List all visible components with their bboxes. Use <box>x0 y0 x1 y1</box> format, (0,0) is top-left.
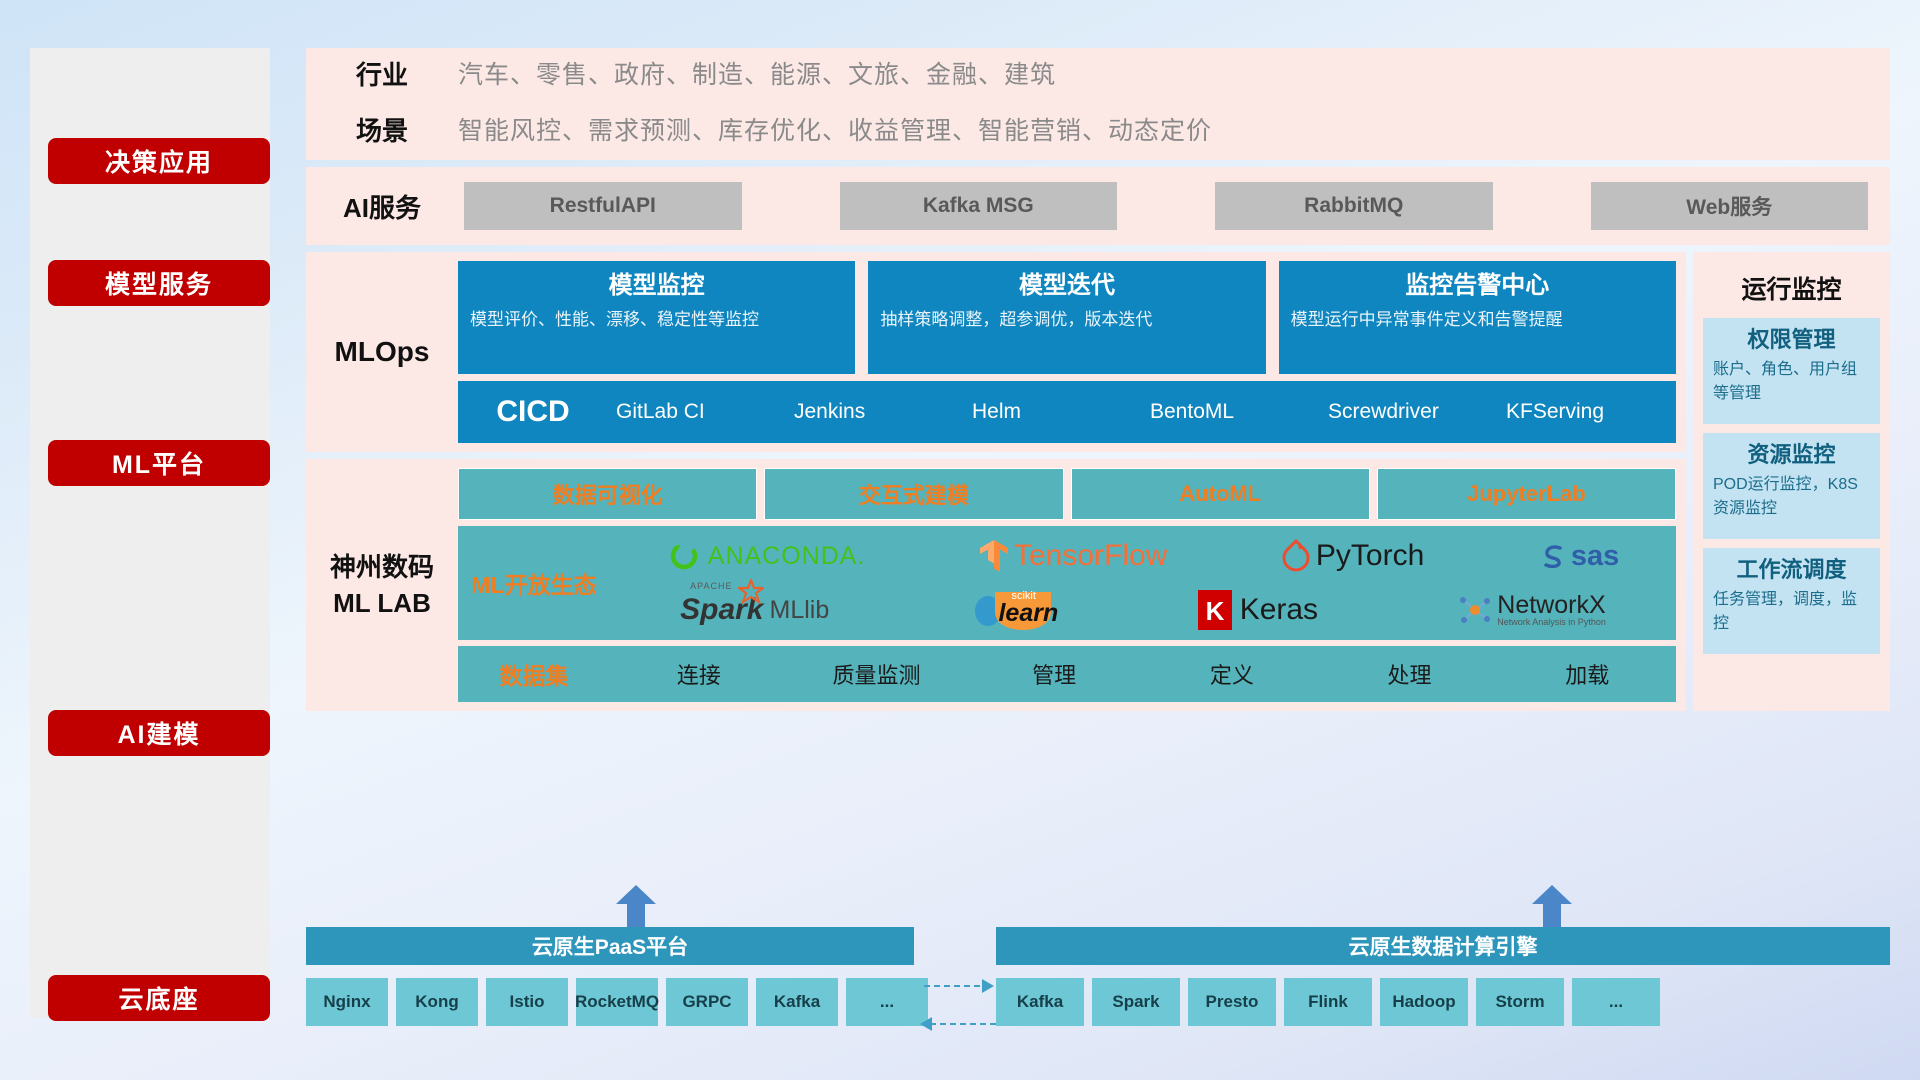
mlops-label: MLOps <box>306 261 458 443</box>
rail-chip-ml-platform[interactable]: ML平台 <box>48 440 270 486</box>
ai-chip-kafka-msg[interactable]: Kafka MSG <box>840 182 1118 230</box>
rail-chip-label: 云底座 <box>118 980 199 1016</box>
spark-apache-sup: APACHE <box>690 581 732 591</box>
logo-scikit-learn: scikit learn <box>969 588 1057 632</box>
mllab-ecosystem: ML开放生态 <box>458 526 1676 640</box>
rail-chip-decision[interactable]: 决策应用 <box>48 138 270 184</box>
cicd-items: GitLab CI Jenkins Helm BentoML Screwdriv… <box>608 399 1676 425</box>
business-labels: 行业 场景 <box>306 47 458 159</box>
card-title: 工作流调度 <box>1713 554 1870 586</box>
ai-chip-web-service[interactable]: Web服务 <box>1591 182 1869 230</box>
card-desc: 抽样策略调整，超参调优，版本迭代 <box>880 307 1253 332</box>
mlops-content: 模型监控 模型评价、性能、漂移、稳定性等监控 模型迭代 抽样策略调整，超参调优，… <box>458 261 1676 443</box>
rail-chip-cloud-base[interactable]: 云底座 <box>48 975 270 1021</box>
business-band: 行业 场景 汽车、零售、政府、制造、能源、文旅、金融、建筑 智能风控、需求预测、… <box>306 48 1890 160</box>
networkx-icon <box>1458 593 1492 627</box>
engine-chip-spark[interactable]: Spark <box>1092 978 1180 1026</box>
ai-chip-rabbitmq[interactable]: RabbitMQ <box>1215 182 1493 230</box>
card-title: 模型迭代 <box>880 269 1253 303</box>
pytorch-icon <box>1281 539 1311 573</box>
logo-tensorflow: TensorFlow <box>979 538 1167 574</box>
mllab-label-line1: 神州数码 <box>330 549 434 585</box>
rail-chip-label: ML平台 <box>112 445 206 481</box>
paas-chip-kong[interactable]: Kong <box>396 978 478 1026</box>
mllab-tool-data-visualization[interactable]: 数据可视化 <box>458 468 757 520</box>
monitoring-column: 运行监控 权限管理 账户、角色、用户组等管理 资源监控 POD运行监控，K8S资… <box>1693 252 1890 711</box>
paas-chip-kafka[interactable]: Kafka <box>756 978 838 1026</box>
card-desc: 账户、角色、用户组等管理 <box>1713 358 1870 406</box>
networkx-label: NetworkX <box>1497 593 1606 618</box>
dash-arrow-right-icon <box>982 978 996 994</box>
mllab-logo-grid: ANACONDA. TensorFlow <box>610 530 1676 636</box>
keras-icon: K <box>1198 590 1232 630</box>
dash-arrow-left-icon <box>918 1016 932 1032</box>
mllab-tool-jupyterlab[interactable]: JupyterLab <box>1377 468 1676 520</box>
dataset-item-define[interactable]: 定义 <box>1143 658 1321 690</box>
rail-chip-label: AI建模 <box>117 715 200 751</box>
dataset-item-manage[interactable]: 管理 <box>965 658 1143 690</box>
mlops-cards: 模型监控 模型评价、性能、漂移、稳定性等监控 模型迭代 抽样策略调整，超参调优，… <box>458 261 1676 374</box>
monitoring-title: 运行监控 <box>1703 262 1880 318</box>
cicd-title: CICD <box>458 395 608 429</box>
rail-chip-label: 模型服务 <box>105 265 213 301</box>
mllib-label: MLlib <box>770 596 830 625</box>
mllab-label: 神州数码 ML LAB <box>306 468 458 702</box>
engine-chip-presto[interactable]: Presto <box>1188 978 1276 1026</box>
layer-rail <box>30 48 270 1018</box>
main-stack: 行业 场景 汽车、零售、政府、制造、能源、文旅、金融、建筑 智能风控、需求预测、… <box>306 48 1890 711</box>
dataset-items: 连接 质量监测 管理 定义 处理 加载 <box>610 658 1676 690</box>
networkx-sub: Network Analysis in Python <box>1497 618 1606 627</box>
cicd-item-bentoml[interactable]: BentoML <box>1142 399 1320 425</box>
rail-chip-ai-modeling[interactable]: AI建模 <box>48 710 270 756</box>
card-title: 权限管理 <box>1713 324 1870 356</box>
scenario-value: 智能风控、需求预测、库存优化、收益管理、智能营销、动态定价 <box>458 103 1890 159</box>
logo-anaconda: ANACONDA. <box>667 539 866 573</box>
ai-service-chips: RestfulAPI Kafka MSG RabbitMQ Web服务 <box>458 182 1868 230</box>
paas-chip-more[interactable]: ... <box>846 978 928 1026</box>
industry-value: 汽车、零售、政府、制造、能源、文旅、金融、建筑 <box>458 47 1890 103</box>
spark-star-icon <box>738 579 764 605</box>
mllab-dataset-row: 数据集 连接 质量监测 管理 定义 处理 加载 <box>458 646 1676 702</box>
engine-chip-flink[interactable]: Flink <box>1284 978 1372 1026</box>
mllab-tool-interactive-modeling[interactable]: 交互式建模 <box>764 468 1063 520</box>
mllab-tool-automl[interactable]: AutoML <box>1071 468 1370 520</box>
pytorch-label: PyTorch <box>1316 539 1424 573</box>
engine-chip-row: Kafka Spark Presto Flink Hadoop Storm ..… <box>996 978 1660 1026</box>
monitor-card-permission[interactable]: 权限管理 账户、角色、用户组等管理 <box>1703 318 1880 424</box>
paas-chip-rocketmq[interactable]: RocketMQ <box>576 978 658 1026</box>
rail-chip-model-service[interactable]: 模型服务 <box>48 260 270 306</box>
middle-section: MLOps 模型监控 模型评价、性能、漂移、稳定性等监控 模型迭代 抽样策略调整… <box>306 252 1890 711</box>
logo-spark-mllib: APACHE Spark MLlib <box>680 593 829 627</box>
card-desc: 任务管理，调度，监控 <box>1713 588 1870 636</box>
logo-row-1: ANACONDA. TensorFlow <box>610 530 1676 582</box>
mlops-card-model-iteration[interactable]: 模型迭代 抽样策略调整，超参调优，版本迭代 <box>868 261 1265 374</box>
tensorflow-label: TensorFlow <box>1014 539 1167 573</box>
logo-row-2: APACHE Spark MLlib <box>610 584 1676 636</box>
anaconda-label: ANACONDA. <box>708 542 866 571</box>
diagram-canvas: 决策应用 模型服务 ML平台 AI建模 云底座 行业 场景 汽车、零售、政府、制… <box>0 0 1920 1080</box>
logo-pytorch: PyTorch <box>1281 539 1424 573</box>
engine-chip-kafka[interactable]: Kafka <box>996 978 1084 1026</box>
paas-chip-istio[interactable]: Istio <box>486 978 568 1026</box>
sas-label: sas <box>1571 540 1619 573</box>
monitor-card-workflow[interactable]: 工作流调度 任务管理，调度，监控 <box>1703 548 1880 654</box>
card-desc: 模型评价、性能、漂移、稳定性等监控 <box>470 307 843 332</box>
card-title: 模型监控 <box>470 269 843 303</box>
rail-chip-label: 决策应用 <box>105 143 213 179</box>
paas-chip-grpc[interactable]: GRPC <box>666 978 748 1026</box>
card-title: 资源监控 <box>1713 439 1870 471</box>
dataset-label: 数据集 <box>458 657 610 691</box>
logo-keras: K Keras <box>1198 590 1318 630</box>
learn-label: learn <box>998 599 1058 628</box>
mlops-band: MLOps 模型监控 模型评价、性能、漂移、稳定性等监控 模型迭代 抽样策略调整… <box>306 252 1686 452</box>
monitor-card-resource[interactable]: 资源监控 POD运行监控，K8S资源监控 <box>1703 433 1880 539</box>
tensorflow-icon <box>979 538 1009 574</box>
logo-networkx: NetworkX Network Analysis in Python <box>1458 593 1606 627</box>
anaconda-icon <box>667 539 701 573</box>
middle-left: MLOps 模型监控 模型评价、性能、漂移、稳定性等监控 模型迭代 抽样策略调整… <box>306 252 1686 711</box>
mllab-label-line2: ML LAB <box>330 585 434 621</box>
keras-label: Keras <box>1240 593 1318 627</box>
scenario-label: 场景 <box>306 103 458 159</box>
business-values: 汽车、零售、政府、制造、能源、文旅、金融、建筑 智能风控、需求预测、库存优化、收… <box>458 47 1890 159</box>
svg-text:K: K <box>1205 596 1224 626</box>
dataset-item-load[interactable]: 加载 <box>1498 658 1676 690</box>
cicd-item-jenkins[interactable]: Jenkins <box>786 399 964 425</box>
card-desc: POD运行监控，K8S资源监控 <box>1713 473 1870 521</box>
logo-sas: sas <box>1538 540 1619 573</box>
cloud-paas-bar[interactable]: 云原生PaaS平台 <box>306 927 914 965</box>
ai-service-label: AI服务 <box>306 188 458 225</box>
arrow-up-paas-icon <box>614 885 658 927</box>
dataset-item-quality[interactable]: 质量监测 <box>788 658 966 690</box>
mlops-card-model-monitoring[interactable]: 模型监控 模型评价、性能、漂移、稳定性等监控 <box>458 261 855 374</box>
arrow-up-engine-icon <box>1530 885 1574 927</box>
mllab-eco-label: ML开放生态 <box>458 566 610 600</box>
cicd-item-screwdriver[interactable]: Screwdriver <box>1320 399 1498 425</box>
dash-line-right <box>924 985 990 987</box>
ai-chip-restfulapi[interactable]: RestfulAPI <box>464 182 742 230</box>
mllab-tools: 数据可视化 交互式建模 AutoML JupyterLab <box>458 468 1676 520</box>
dataset-item-connect[interactable]: 连接 <box>610 658 788 690</box>
paas-chip-row: Nginx Kong Istio RocketMQ GRPC Kafka ... <box>306 978 928 1026</box>
dash-line-left <box>930 1023 996 1025</box>
engine-chip-hadoop[interactable]: Hadoop <box>1380 978 1468 1026</box>
cicd-bar: CICD GitLab CI Jenkins Helm BentoML Scre… <box>458 381 1676 443</box>
cloud-engine-bar[interactable]: 云原生数据计算引擎 <box>996 927 1890 965</box>
mllab-band: 神州数码 ML LAB 数据可视化 交互式建模 AutoML JupyterLa… <box>306 459 1686 711</box>
mllab-content: 数据可视化 交互式建模 AutoML JupyterLab ML开放生态 <box>458 468 1676 702</box>
ai-service-band: AI服务 RestfulAPI Kafka MSG RabbitMQ Web服务 <box>306 167 1890 245</box>
scikit-orange-blob: scikit learn <box>989 588 1057 632</box>
sas-icon <box>1538 541 1568 571</box>
industry-label: 行业 <box>306 47 458 103</box>
card-title: 监控告警中心 <box>1291 269 1664 303</box>
engine-chip-storm[interactable]: Storm <box>1476 978 1564 1026</box>
card-desc: 模型运行中异常事件定义和告警提醒 <box>1291 307 1664 332</box>
mlops-card-alert-center[interactable]: 监控告警中心 模型运行中异常事件定义和告警提醒 <box>1279 261 1676 374</box>
cicd-item-kfserving[interactable]: KFServing <box>1498 399 1676 425</box>
paas-chip-nginx[interactable]: Nginx <box>306 978 388 1026</box>
cicd-item-gitlab-ci[interactable]: GitLab CI <box>608 399 786 425</box>
cicd-item-helm[interactable]: Helm <box>964 399 1142 425</box>
dataset-item-process[interactable]: 处理 <box>1321 658 1499 690</box>
cloud-base-section: 云原生PaaS平台 云原生数据计算引擎 Nginx Kong Istio Roc… <box>306 885 1890 1055</box>
engine-chip-more[interactable]: ... <box>1572 978 1660 1026</box>
